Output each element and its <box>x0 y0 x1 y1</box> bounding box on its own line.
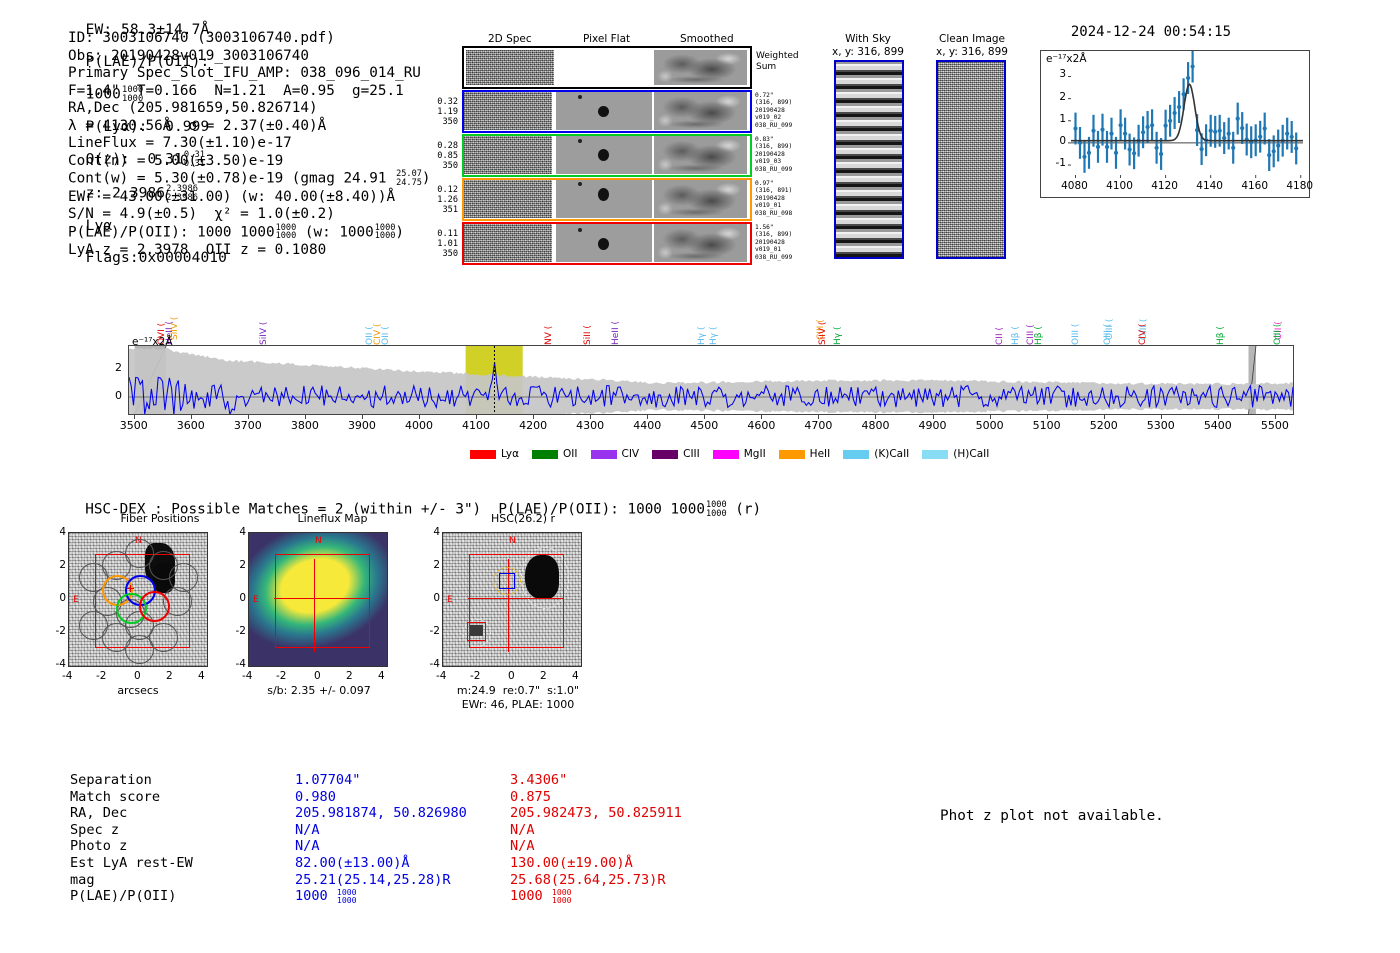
spectrum-xtick-mark <box>1275 415 1276 419</box>
emission-line-label: SiIV ( <box>259 322 269 345</box>
row-2dspec <box>464 136 552 174</box>
spectrum-xtick: 5300 <box>1141 419 1181 432</box>
weighted-sum-pixelflat <box>556 50 652 85</box>
emission-line-label: Hγ ( <box>697 327 707 345</box>
spectrum-xtick-mark <box>1104 415 1105 419</box>
spectrum-xtick-mark <box>1047 415 1048 419</box>
spectrum-xtick-mark <box>305 415 306 419</box>
match-row-label: Separation <box>70 772 295 789</box>
spectrum-xtick: 4700 <box>798 419 838 432</box>
row-frame <box>462 222 752 265</box>
weighted-sum-smoothed <box>654 50 747 85</box>
legend-swatch <box>591 450 617 459</box>
emission-line-label: Hβ ( <box>1216 326 1226 345</box>
match-value-col1: N/A <box>295 822 510 839</box>
lineflux-map-title: Lineflux Map <box>240 512 425 525</box>
spectrum-canvas <box>129 346 1293 414</box>
match-value-col2: 1000 10001000 <box>510 888 725 905</box>
spectrum-xtick: 4500 <box>684 419 724 432</box>
table-row: Spec zN/AN/A <box>70 822 725 839</box>
match-row-label: Spec z <box>70 822 295 839</box>
emission-line-label: Hγ ( <box>833 327 843 345</box>
legend-item: CIV <box>591 448 640 460</box>
lineflux-map-panel: Lineflux Map N E 4 2 0 -2 -4 -4 -2 0 2 4… <box>240 512 440 722</box>
weighted-sum-label: Weighted Sum <box>756 51 799 72</box>
match-row-label: mag <box>70 872 295 889</box>
emission-line-label: SiII ( <box>583 325 593 345</box>
row-meta: 0.83"(316, 899)20190428v019_03038_RU_099 <box>755 136 792 173</box>
emission-line-label: SiIV ( <box>818 322 828 345</box>
legend-label: (H)CaII <box>953 448 989 460</box>
row-pixelflat <box>556 180 652 218</box>
match-value-col2: 25.68(25.64,25.73)R <box>510 872 725 889</box>
row-2dspec <box>464 92 552 130</box>
spectrum-xtick-mark <box>191 415 192 419</box>
legend-item: HeII <box>779 448 831 460</box>
info-line-slot: Primary Spec_Slot_IFU_AMP: 038_096_014_R… <box>68 65 431 83</box>
spectrum-xtick: 3900 <box>342 419 382 432</box>
info-line-lineflux: LineFlux = 7.30(±1.10)e-17 <box>68 135 431 153</box>
row-stats: 0.280.85350 <box>427 141 458 171</box>
legend-swatch <box>652 450 678 459</box>
row-pixelflat <box>556 224 652 262</box>
legend-swatch <box>922 450 948 459</box>
row-smoothed <box>654 92 747 130</box>
spectrum-ytick: 0 <box>102 389 122 402</box>
legend-item: MgII <box>713 448 766 460</box>
line-fit-xtick: 4080 <box>1060 180 1090 192</box>
spectrum-xtick: 3600 <box>171 419 211 432</box>
line-fit-xtick: 4160 <box>1240 180 1270 192</box>
info-line-sn: S/N = 4.9(±0.5) χ² = 1.0(±0.2) <box>68 206 431 224</box>
spectrum-xtick: 3800 <box>285 419 325 432</box>
spectrum-axes <box>128 345 1294 415</box>
emission-line-label: CII ( <box>995 327 1005 345</box>
legend-swatch <box>843 450 869 459</box>
fiber-positions-title: Fiber Positions <box>60 512 260 525</box>
info-line-id: ID: 3003106740 (3003106740.pdf) <box>68 30 431 48</box>
gmag-range: 25.0724.75 <box>396 170 422 187</box>
spec-montage: 2D Spec Pixel Flat Smoothed Weighted Sum… <box>430 33 830 268</box>
emission-line-label: OIII ( <box>1071 324 1081 345</box>
legend-item: Lyα <box>470 448 519 460</box>
match-row-label: Match score <box>70 789 295 806</box>
legend-label: Lyα <box>501 448 519 460</box>
hsc-r-panel: HSC(26.2) r N E 4 2 0 -2 -4 -4 -2 0 2 4 … <box>428 512 638 742</box>
spectrum-xtick: 4300 <box>570 419 610 432</box>
spectrum-xtick-mark <box>476 415 477 419</box>
row-frame <box>462 134 752 177</box>
line-fit-canvas <box>1041 51 1309 197</box>
spectrum-xtick-mark <box>1218 415 1219 419</box>
info-line-contn: Cont(n) = 5.00(±3.50)e-19 <box>68 153 431 171</box>
match-plae-range: 10001000 <box>337 888 357 904</box>
info-line-lambda: λ = 4130.56Å σ = 2.37(±0.40)Å <box>68 118 431 136</box>
match-value-col2: 205.982473, 50.825911 <box>510 805 725 822</box>
spectrum-xtick: 5000 <box>970 419 1010 432</box>
row-frame <box>462 90 752 133</box>
legend-item: (K)CaII <box>843 448 909 460</box>
row-meta: 1.56"(316, 899)20190428v019_01038_RU_099 <box>755 224 792 261</box>
row-pixelflat <box>556 136 652 174</box>
compass-n: N <box>509 536 516 546</box>
cutout-pair: With Skyx, y: 316, 899 Clean Imagex, y: … <box>826 33 1026 273</box>
legend-label: OII <box>563 448 577 460</box>
montage-col-2dspec: 2D Spec <box>488 33 532 45</box>
photoz-note: Phot z plot not available. <box>940 808 1164 824</box>
info-line-redshifts: LyA z = 2.3978 OII z = 0.1080 <box>68 242 431 260</box>
lineflux-map-image: N E <box>248 532 388 667</box>
montage-row: 0.121.26351 0.97"(316, 891)20190428v019_… <box>430 178 830 222</box>
spectrum-xtick-mark <box>590 415 591 419</box>
spectrum-legend: LyαOIICIVCIIIMgIIHeII(K)CaII(H)CaII <box>470 448 1002 460</box>
spectrum-xtick: 3500 <box>114 419 154 432</box>
info-line-obs: Obs: 20190428v019_3003106740 <box>68 48 431 66</box>
match-table: Separation1.07704"3.4306"Match score0.98… <box>70 772 725 905</box>
compass-e: E <box>447 595 453 605</box>
match-value-col2: 0.875 <box>510 789 725 806</box>
spectrum-xtick: 5400 <box>1198 419 1238 432</box>
emission-line-label: HeII ( <box>611 321 621 345</box>
table-row: Separation1.07704"3.4306" <box>70 772 725 789</box>
emission-line-label: Hγ ( <box>709 327 719 345</box>
legend-item: OII <box>532 448 577 460</box>
spectrum-xtick-mark <box>990 415 991 419</box>
spectrum-xtick-mark <box>134 415 135 419</box>
row-smoothed <box>654 180 747 218</box>
clean-image-title: Clean Imagex, y: 316, 899 <box>922 33 1022 58</box>
match-value-col1: 205.981874, 50.826980 <box>295 805 510 822</box>
spectrum-xtick-mark <box>647 415 648 419</box>
spectrum-xtick: 4400 <box>627 419 667 432</box>
table-row: mag25.21(25.14,25.28)R25.68(25.64,25.73)… <box>70 872 725 889</box>
match-row-label: RA, Dec <box>70 805 295 822</box>
legend-swatch <box>470 450 496 459</box>
spectrum-units: e⁻¹⁷x2Å <box>132 336 173 348</box>
hsc-r-image: N E <box>442 532 582 667</box>
montage-row: 0.321.19350 0.72"(316, 899)20190428v019_… <box>430 90 830 134</box>
clean-image <box>936 60 1006 259</box>
info-line-seeing: F=1.4" T=0.166 N=1.21 A=0.95 g=25.1 <box>68 83 431 101</box>
match-value-col2: N/A <box>510 822 725 839</box>
lineflux-xticks: -4 -2 0 2 4 <box>248 670 388 684</box>
compass-e: E <box>253 595 259 605</box>
row-stats: 0.121.26351 <box>427 185 458 215</box>
row-smoothed <box>654 224 747 262</box>
spectrum-xtick-mark <box>933 415 934 419</box>
hsc-r-yticks: 4 2 0 -2 -4 <box>422 532 440 667</box>
spectrum-xtick-mark <box>248 415 249 419</box>
emission-line-label: OIII ( <box>1273 324 1283 345</box>
match-plae-range: 10001000 <box>552 888 572 904</box>
line-fit-xtick: 4140 <box>1195 180 1225 192</box>
spectrum-xtick-mark <box>362 415 363 419</box>
primary-match-box <box>499 573 515 589</box>
row-meta: 0.72"(316, 899)20190428v019_02038_RU_099 <box>755 92 792 129</box>
hsc-r-xticks: -4 -2 0 2 4 <box>442 670 582 684</box>
info-plae-w-range: 10001000 <box>375 224 396 241</box>
table-row: Match score0.9800.875 <box>70 789 725 806</box>
dex-plae-range: 10001000 <box>706 501 727 518</box>
full-spectrum-panel: OVI (HeII (SiIV (SiIV (OII (CIV (OII (NV… <box>0 270 1400 470</box>
legend-label: (K)CaII <box>874 448 909 460</box>
legend-label: CIV <box>622 448 640 460</box>
match-value-col1: 25.21(25.14,25.28)R <box>295 872 510 889</box>
spectrum-xtick: 5500 <box>1255 419 1295 432</box>
spectrum-xtick: 4200 <box>513 419 553 432</box>
spectrum-xtick: 4600 <box>741 419 781 432</box>
fiber-positions-caption: arcsecs <box>68 684 208 698</box>
line-fit-ytick: 0 <box>1044 135 1066 147</box>
row-stats: 0.321.19350 <box>427 97 458 127</box>
line-fit-ytick: 3 <box>1044 68 1066 80</box>
match-value-col1: N/A <box>295 838 510 855</box>
spectrum-xtick: 4100 <box>456 419 496 432</box>
with-sky-image <box>834 60 904 259</box>
legend-label: CIII <box>683 448 700 460</box>
match-value-col2: 3.4306" <box>510 772 725 789</box>
match-value-col1: 1000 10001000 <box>295 888 510 905</box>
table-row: Photo zN/AN/A <box>70 838 725 855</box>
legend-item: CIII <box>652 448 700 460</box>
emission-line-label: CIV ( <box>1138 324 1148 345</box>
row-frame <box>462 178 752 221</box>
line-fit-ytick: -1 <box>1044 157 1066 169</box>
line-fit-xtick: 4120 <box>1150 180 1180 192</box>
montage-rows: 0.321.19350 0.72"(316, 899)20190428v019_… <box>430 90 830 268</box>
match-value-col1: 0.980 <box>295 789 510 806</box>
info-line-ewr: EWr = 43.00(±31.00) (w: 40.00(±8.40))Å <box>68 189 431 207</box>
match-value-col1: 82.00(±13.00)Å <box>295 855 510 872</box>
match-value-col2: 130.00(±19.00)Å <box>510 855 725 872</box>
legend-label: HeII <box>810 448 831 460</box>
legend-swatch <box>713 450 739 459</box>
lineflux-yticks: 4 2 0 -2 -4 <box>228 532 246 667</box>
fiber-positions-image: N E <box>68 532 208 667</box>
spectrum-xtick-mark <box>533 415 534 419</box>
row-meta: 0.97"(316, 891)20190428v019_01038_RU_098 <box>755 180 792 217</box>
line-fit-units: e⁻¹⁷x2Å <box>1046 53 1087 65</box>
match-value-col2: N/A <box>510 838 725 855</box>
line-fit-ytick: 2 <box>1044 91 1066 103</box>
spectrum-xtick-mark <box>818 415 819 419</box>
row-stats: 0.111.01350 <box>427 229 458 259</box>
legend-swatch <box>779 450 805 459</box>
emission-line-label: Hβ ( <box>1034 326 1044 345</box>
fiber-xticks: -4 -2 0 2 4 <box>68 670 208 684</box>
info-line-contw: Cont(w) = 5.30(±0.78)e-19 (gmag 24.91 25… <box>68 170 431 188</box>
compass-n: N <box>315 536 322 546</box>
spectrum-xtick: 4000 <box>399 419 439 432</box>
info-plae-range: 10001000 <box>276 224 297 241</box>
legend-item: (H)CaII <box>922 448 989 460</box>
match-row-label: P(LAE)/P(OII) <box>70 888 295 905</box>
info-line-radec: RA,Dec (205.981659,50.826714) <box>68 100 431 118</box>
spectrum-xtick-mark <box>761 415 762 419</box>
legend-swatch <box>532 450 558 459</box>
with-sky-title: With Skyx, y: 316, 899 <box>826 33 910 58</box>
row-2dspec <box>464 224 552 262</box>
spectrum-xtick: 5100 <box>1027 419 1067 432</box>
montage-row: 0.280.85350 0.83"(316, 899)20190428v019_… <box>430 134 830 178</box>
hsc-r-caption: m:24.9 re:0.7" s:1.0" EWr: 46, PLAE: 100… <box>428 684 608 711</box>
row-smoothed <box>654 136 747 174</box>
weighted-sum-panel <box>462 46 752 89</box>
weighted-sum-2dspec <box>466 50 554 85</box>
emission-line-label: Hβ ( <box>1011 326 1021 345</box>
timestamp: 2024-12-24 00:54:15 <box>1071 24 1231 40</box>
spectrum-xtick: 4900 <box>913 419 953 432</box>
line-fit-ytick: 1 <box>1044 113 1066 125</box>
line-fit-axes <box>1040 50 1310 198</box>
detection-info-block: ID: 3003106740 (3003106740.pdf) Obs: 201… <box>68 30 431 259</box>
match-row-label: Photo z <box>70 838 295 855</box>
fiber-yticks: 4 2 0 -2 -4 <box>48 532 66 667</box>
montage-row: 0.111.01350 1.56"(316, 899)20190428v019_… <box>430 222 830 266</box>
spectrum-xtick-mark <box>419 415 420 419</box>
legend-label: MgII <box>744 448 766 460</box>
spectrum-xtick-mark <box>1161 415 1162 419</box>
fiber-red <box>139 591 170 622</box>
table-row: RA, Dec205.981874, 50.826980205.982473, … <box>70 805 725 822</box>
line-fit-plot: e⁻¹⁷x2Å 408041004120414041604180 -10123 <box>1040 50 1310 215</box>
montage-col-pixelflat: Pixel Flat <box>583 33 630 45</box>
emission-line-label: OII ( <box>381 326 391 345</box>
table-row: Est LyA rest-EW82.00(±13.00)Å130.00(±19.… <box>70 855 725 872</box>
row-pixelflat <box>556 92 652 130</box>
row-2dspec <box>464 180 552 218</box>
lineflux-map-caption: s/b: 2.35 +/- 0.097 <box>240 684 398 698</box>
montage-col-smoothed: Smoothed <box>680 33 734 45</box>
info-line-plae: P(LAE)/P(OII): 1000 100010001000 (w: 100… <box>68 224 431 242</box>
line-fit-xtick: 4100 <box>1105 180 1135 192</box>
compass-e: E <box>73 595 79 605</box>
line-fit-xtick: 4180 <box>1285 180 1315 192</box>
hsc-r-title: HSC(26.2) r <box>428 512 618 525</box>
spectrum-ytick: 2 <box>102 361 122 374</box>
spectrum-xtick: 5200 <box>1084 419 1124 432</box>
emission-line-label: OIII ( <box>1103 324 1113 345</box>
spectrum-xtick-mark <box>704 415 705 419</box>
spectrum-xtick: 3700 <box>228 419 268 432</box>
emission-line-label: NV ( <box>544 326 554 345</box>
spectrum-xtick: 4800 <box>855 419 895 432</box>
match-value-col1: 1.07704" <box>295 772 510 789</box>
spectrum-xtick-mark <box>875 415 876 419</box>
match-row-label: Est LyA rest-EW <box>70 855 295 872</box>
table-row: P(LAE)/P(OII)1000 100010001000 10001000 <box>70 888 725 905</box>
